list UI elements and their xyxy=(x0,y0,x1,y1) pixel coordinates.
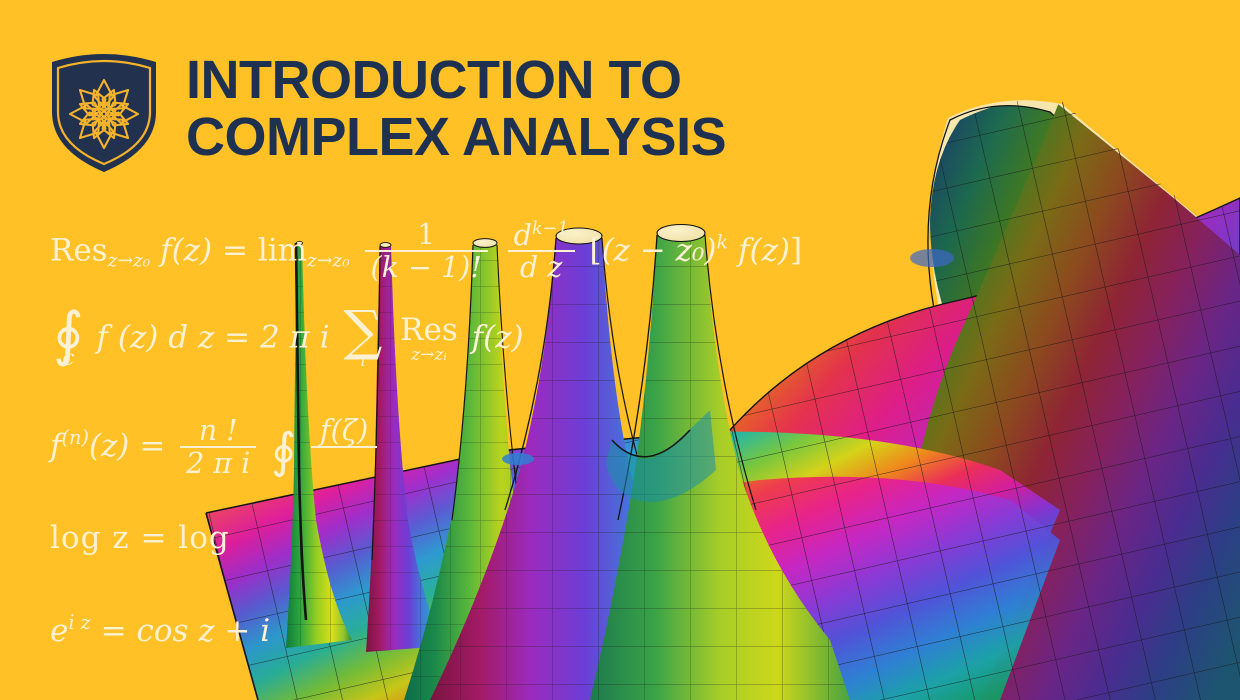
shield-body xyxy=(52,54,156,172)
poster-canvas: Resz→z₀ f(z) = limz→z₀ 1 (k − 1)! dk−1 d… xyxy=(0,0,1240,700)
shield-star-logo xyxy=(48,46,160,174)
title-line-2: COMPLEX ANALYSIS xyxy=(186,109,726,166)
page-title: INTRODUCTION TO COMPLEX ANALYSIS xyxy=(186,46,726,166)
poster-header: INTRODUCTION TO COMPLEX ANALYSIS xyxy=(48,46,726,174)
title-line-1: INTRODUCTION TO xyxy=(186,52,726,109)
